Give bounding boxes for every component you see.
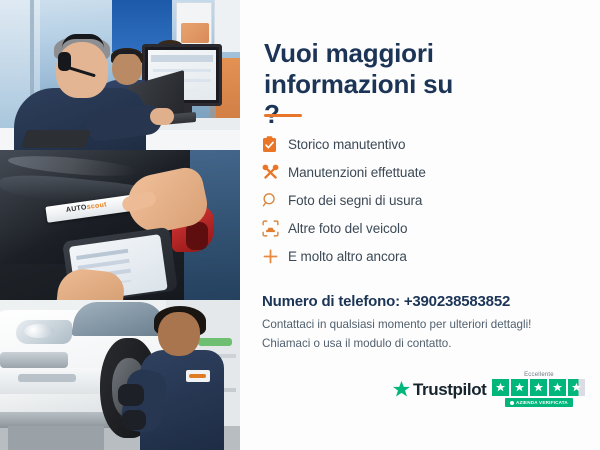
vehicle-damage-inspection-photo: AUTOscout [0, 150, 240, 300]
trustpilot-rating-label: Eccellente [524, 372, 554, 378]
verified-label: AZIENDA VERIFICATA [516, 400, 568, 405]
scan-car-icon [262, 220, 288, 237]
clipboard-check-icon [262, 136, 288, 153]
heading-line-1: Vuoi maggiori [264, 38, 474, 69]
magnifier-icon [262, 192, 288, 208]
star-5-partial [568, 379, 585, 396]
verified-check-icon [510, 401, 514, 405]
list-item: E molto altro ancora [262, 242, 502, 270]
list-item: Manutenzioni effettuate [262, 158, 502, 186]
list-item: Altre foto del veicolo [262, 214, 502, 242]
feature-list: Storico manutentivo Manutenzioni effettu… [262, 130, 502, 270]
list-item-label: E molto altro ancora [288, 249, 407, 264]
promo-banner: AUTOscout Vuoi maggiori informazioni su … [0, 0, 600, 450]
list-item-label: Altre foto del veicolo [288, 221, 407, 236]
photo-column: AUTOscout [0, 0, 240, 450]
mechanic-wheel-service-photo [0, 300, 240, 450]
contact-subtitle-line-1: Contattaci in qualsiasi momento per ulte… [262, 318, 531, 331]
list-item-label: Manutenzioni effettuate [288, 165, 426, 180]
trustpilot-brand: Trustpilot [413, 380, 486, 400]
trustpilot-rating[interactable]: Trustpilot Eccellente AZIENDA VERIFICATA [392, 372, 585, 407]
heading-divider [264, 114, 302, 117]
list-item: Foto dei segni di usura [262, 186, 502, 214]
star-2 [511, 379, 528, 396]
star-4 [549, 379, 566, 396]
phone-number[interactable]: Numero di telefono: +390238583852 [262, 293, 510, 310]
heading-line-2: informazioni su ? [264, 69, 474, 130]
wrench-screwdriver-icon [262, 164, 288, 181]
list-item-label: Storico manutentivo [288, 137, 405, 152]
list-item: Storico manutentivo [262, 130, 502, 158]
star-1 [492, 379, 509, 396]
contact-subtitle-line-2: Chiamaci o usa il modulo di contatto. [262, 337, 451, 350]
plus-icon [262, 248, 288, 265]
verified-company-badge: AZIENDA VERIFICATA [505, 398, 573, 407]
trustpilot-score-block: Eccellente AZIENDA VERIFICATA [492, 372, 585, 407]
info-panel: Vuoi maggiori informazioni su ? Saremo f… [240, 0, 600, 450]
list-item-label: Foto dei segni di usura [288, 193, 422, 208]
star-3 [530, 379, 547, 396]
trustpilot-stars [492, 379, 585, 396]
trustpilot-logo: Trustpilot [392, 380, 486, 400]
trustpilot-star-icon [392, 380, 411, 399]
call-centre-agents-photo [0, 0, 240, 150]
